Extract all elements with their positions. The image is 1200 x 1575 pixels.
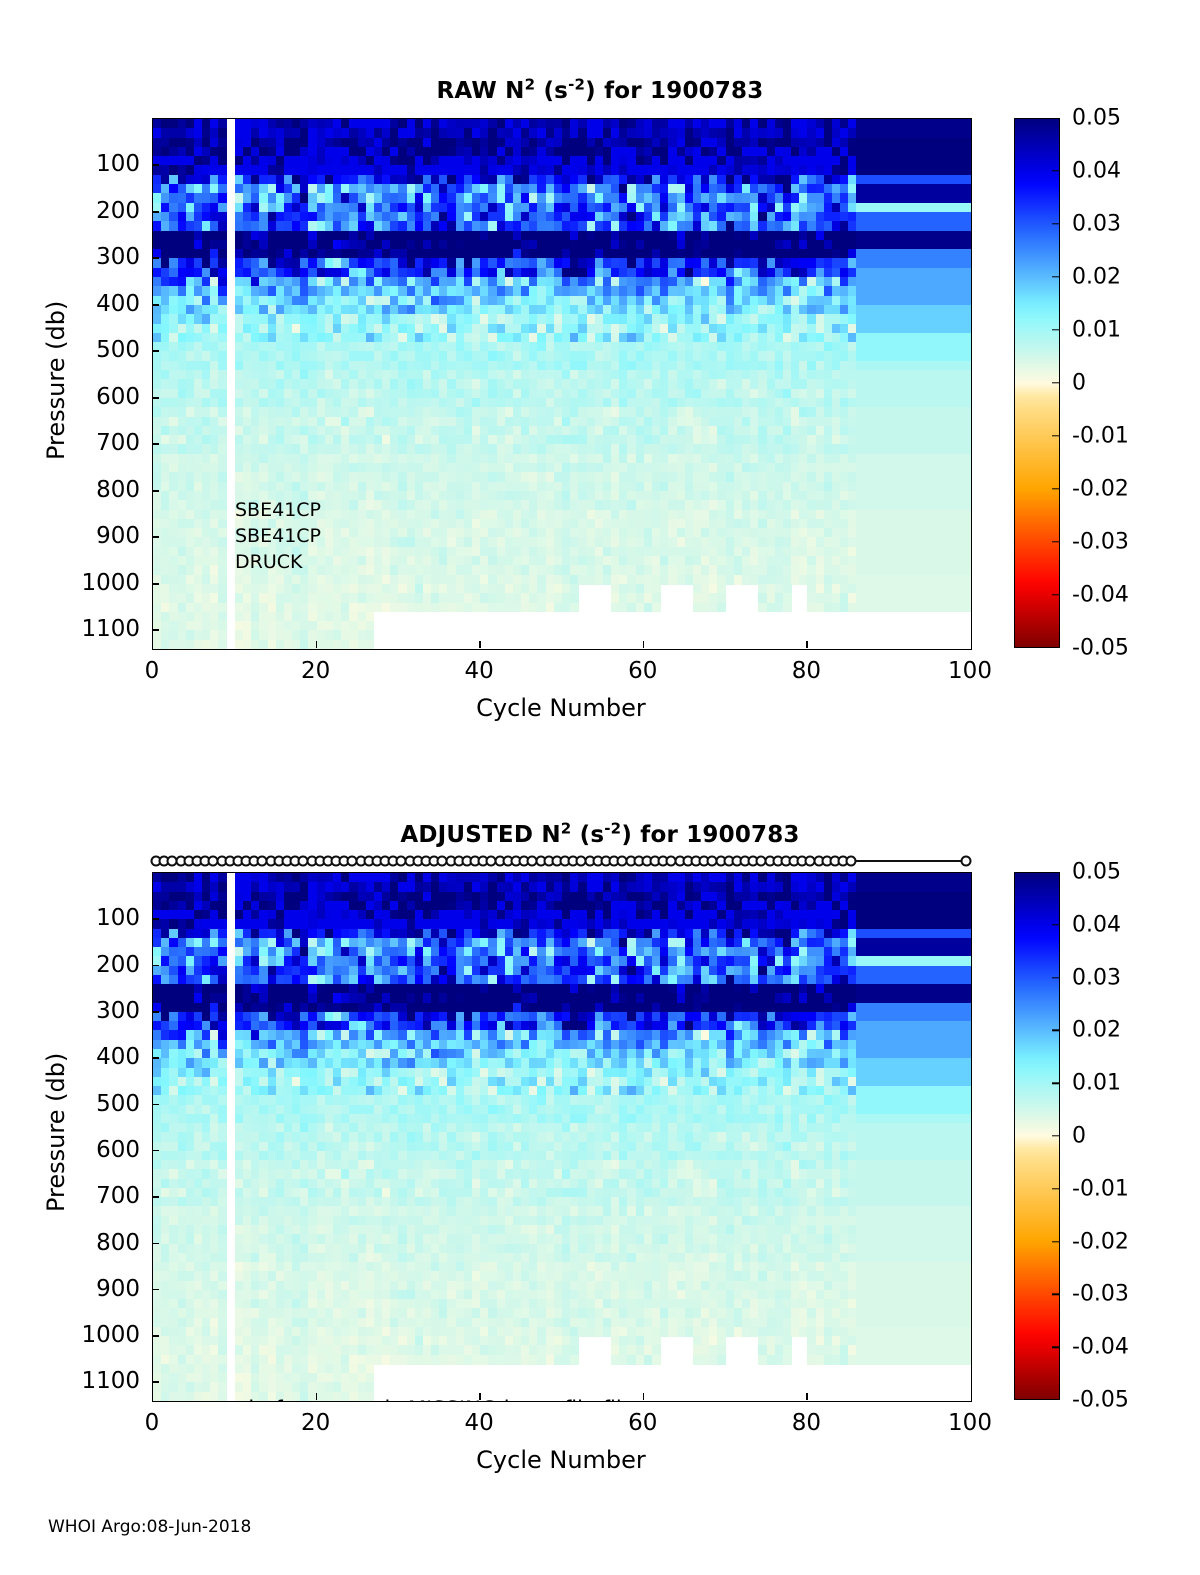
colorbar-tick-mark xyxy=(1052,488,1060,489)
adjusted-cycle-marker-row xyxy=(152,854,970,868)
y-tick-label: 1100 xyxy=(0,1368,140,1394)
x-tick-label: 40 xyxy=(465,658,494,684)
colorbar-tick-mark xyxy=(1052,1082,1060,1083)
raw-axes: SBE41CPSBE41CPDRUCK xyxy=(152,118,972,650)
y-tick-label: 1100 xyxy=(0,616,140,642)
y-tick-label: 800 xyxy=(0,1230,140,1256)
colorbar-tick-label: -0.04 xyxy=(1060,583,1129,608)
cycle-marker xyxy=(960,856,971,867)
colorbar-tick-label: -0.03 xyxy=(1060,530,1129,555)
colorbar-tick-mark xyxy=(1052,1294,1060,1295)
y-tick-mark xyxy=(152,583,159,585)
colorbar-tick-label: 0.02 xyxy=(1060,265,1121,290)
y-tick-mark xyxy=(152,350,159,352)
colorbar-tick-label: 0.05 xyxy=(1060,106,1121,131)
y-tick-label: 100 xyxy=(0,905,140,931)
y-tick-mark xyxy=(152,1057,159,1059)
x-tick-mark xyxy=(316,1393,318,1400)
panel-adjusted: ADJUSTED N2 (s-2) for 1900783 platform t… xyxy=(0,760,1200,1520)
colorbar-tick-mark xyxy=(1052,1030,1060,1031)
colorbar-tick-mark xyxy=(1052,1135,1060,1136)
colorbar-tick-mark xyxy=(1052,541,1060,542)
adjusted-plot-title: ADJUSTED N2 (s-2) for 1900783 xyxy=(0,822,1200,848)
colorbar-tick-label: 0.04 xyxy=(1060,159,1121,184)
raw-x-axis-title: Cycle Number xyxy=(152,694,970,722)
colorbar-tick-mark xyxy=(1052,1241,1060,1242)
y-tick-label: 300 xyxy=(0,998,140,1024)
colorbar-tick-mark xyxy=(1052,276,1060,277)
y-tick-label: 100 xyxy=(0,151,140,177)
colorbar-tick-label: -0.02 xyxy=(1060,477,1129,502)
y-tick-label: 800 xyxy=(0,477,140,503)
y-tick-mark xyxy=(152,490,159,492)
x-tick-mark xyxy=(479,641,481,648)
y-tick-mark xyxy=(152,1196,159,1198)
colorbar-tick-mark xyxy=(1052,594,1060,595)
colorbar-tick-label: 0.01 xyxy=(1060,318,1121,343)
colorbar-tick-label: 0 xyxy=(1060,1124,1086,1149)
x-tick-label: 40 xyxy=(465,1410,494,1436)
x-tick-label: 60 xyxy=(628,1410,657,1436)
adj-title-exponent2: -2 xyxy=(604,819,621,837)
y-tick-label: 500 xyxy=(0,337,140,363)
colorbar-tick-label: -0.01 xyxy=(1060,424,1129,449)
raw-title-exponent2: -2 xyxy=(568,75,585,93)
x-tick-label: 80 xyxy=(792,658,821,684)
x-tick-label: 60 xyxy=(628,658,657,684)
colorbar-tick-label: -0.05 xyxy=(1060,1388,1129,1413)
y-tick-label: 600 xyxy=(0,384,140,410)
y-tick-mark xyxy=(152,397,159,399)
colorbar-tick-label: -0.01 xyxy=(1060,1176,1129,1201)
y-tick-label: 700 xyxy=(0,430,140,456)
adj-title-suffix: ) for 1900783 xyxy=(621,822,799,848)
colorbar-tick-label: 0.04 xyxy=(1060,912,1121,937)
adjusted-annotation-line: platform type is MISSING in profile file xyxy=(235,1396,635,1402)
x-tick-label: 100 xyxy=(948,658,992,684)
y-tick-mark xyxy=(152,1150,159,1152)
raw-annotation-line: DRUCK xyxy=(235,549,321,575)
colorbar-tick-mark xyxy=(1052,1346,1060,1347)
adj-title-prefix: ADJUSTED N xyxy=(400,822,560,848)
raw-annotation-line: SBE41CP xyxy=(235,497,321,523)
x-tick-label: 0 xyxy=(145,658,160,684)
colorbar-tick-label: 0 xyxy=(1060,371,1086,396)
colorbar-tick-label: -0.02 xyxy=(1060,1229,1129,1254)
y-tick-mark xyxy=(152,443,159,445)
raw-annotation-line: SBE41CP xyxy=(235,523,321,549)
colorbar-tick-mark xyxy=(1052,382,1060,383)
colorbar-tick-mark xyxy=(1052,435,1060,436)
x-tick-label: 20 xyxy=(301,658,330,684)
y-tick-mark xyxy=(152,1381,159,1383)
adjusted-y-axis-title: Pressure (db) xyxy=(42,1053,70,1212)
y-tick-mark xyxy=(152,629,159,631)
panel-raw: RAW N2 (s-2) for 1900783 SBE41CPSBE41CPD… xyxy=(0,0,1200,740)
y-tick-mark xyxy=(152,536,159,538)
colorbar-tick-label: 0.02 xyxy=(1060,1018,1121,1043)
y-tick-label: 900 xyxy=(0,1276,140,1302)
x-tick-mark xyxy=(806,1393,808,1400)
x-tick-label: 20 xyxy=(301,1410,330,1436)
raw-title-prefix: RAW N xyxy=(437,78,525,104)
colorbar-tick-label: -0.05 xyxy=(1060,636,1129,661)
y-tick-mark xyxy=(152,257,159,259)
adjusted-heatmap xyxy=(153,873,971,1401)
y-tick-label: 1000 xyxy=(0,570,140,596)
colorbar-tick-label: -0.04 xyxy=(1060,1335,1129,1360)
adjusted-annotations: platform type is MISSING in profile file xyxy=(235,1396,635,1402)
y-tick-label: 500 xyxy=(0,1091,140,1117)
y-tick-label: 700 xyxy=(0,1183,140,1209)
y-tick-mark xyxy=(152,211,159,213)
colorbar-tick-mark xyxy=(1052,977,1060,978)
y-tick-mark xyxy=(152,164,159,166)
x-tick-mark xyxy=(479,1393,481,1400)
y-tick-mark xyxy=(152,918,159,920)
cycle-marker xyxy=(846,856,857,867)
y-tick-label: 1000 xyxy=(0,1322,140,1348)
colorbar-tick-label: 0.05 xyxy=(1060,860,1121,885)
y-tick-label: 400 xyxy=(0,1044,140,1070)
colorbar-tick-mark xyxy=(1052,223,1060,224)
y-tick-label: 400 xyxy=(0,291,140,317)
y-tick-label: 600 xyxy=(0,1137,140,1163)
adj-title-mid: (s xyxy=(571,822,604,848)
adj-title-exponent: 2 xyxy=(561,819,572,837)
y-tick-label: 900 xyxy=(0,523,140,549)
colorbar-tick-label: 0.03 xyxy=(1060,965,1121,990)
y-tick-label: 200 xyxy=(0,952,140,978)
y-tick-label: 300 xyxy=(0,244,140,270)
footer-credit: WHOI Argo:08-Jun-2018 xyxy=(48,1517,251,1537)
adjusted-x-axis-title: Cycle Number xyxy=(152,1446,970,1474)
adjusted-colorbar: 0.050.040.030.020.010-0.01-0.02-0.03-0.0… xyxy=(1014,872,1060,1400)
raw-title-mid: (s xyxy=(535,78,568,104)
y-tick-mark xyxy=(152,304,159,306)
x-tick-mark xyxy=(316,641,318,648)
raw-plot-title: RAW N2 (s-2) for 1900783 xyxy=(0,78,1200,104)
y-tick-mark xyxy=(152,1243,159,1245)
adjusted-axes: platform type is MISSING in profile file xyxy=(152,872,972,1402)
colorbar-tick-mark xyxy=(1052,170,1060,171)
raw-y-axis-title: Pressure (db) xyxy=(42,301,70,460)
colorbar-tick-label: 0.03 xyxy=(1060,212,1121,237)
x-tick-mark xyxy=(643,641,645,648)
colorbar-tick-label: 0.01 xyxy=(1060,1071,1121,1096)
x-tick-label: 80 xyxy=(792,1410,821,1436)
y-tick-mark xyxy=(152,1335,159,1337)
y-tick-mark xyxy=(152,1104,159,1106)
x-tick-label: 100 xyxy=(948,1410,992,1436)
x-tick-mark xyxy=(643,1393,645,1400)
colorbar-tick-mark xyxy=(1052,1188,1060,1189)
y-tick-mark xyxy=(152,965,159,967)
y-tick-mark xyxy=(152,1289,159,1291)
raw-colorbar: 0.050.040.030.020.010-0.01-0.02-0.03-0.0… xyxy=(1014,118,1060,648)
x-tick-label: 0 xyxy=(145,1410,160,1436)
colorbar-tick-label: -0.03 xyxy=(1060,1282,1129,1307)
colorbar-tick-mark xyxy=(1052,329,1060,330)
raw-annotations: SBE41CPSBE41CPDRUCK xyxy=(235,497,321,575)
raw-title-suffix: ) for 1900783 xyxy=(585,78,763,104)
colorbar-tick-mark xyxy=(1052,924,1060,925)
y-tick-mark xyxy=(152,1011,159,1013)
y-tick-label: 200 xyxy=(0,198,140,224)
raw-title-exponent: 2 xyxy=(525,75,536,93)
x-tick-mark xyxy=(806,641,808,648)
